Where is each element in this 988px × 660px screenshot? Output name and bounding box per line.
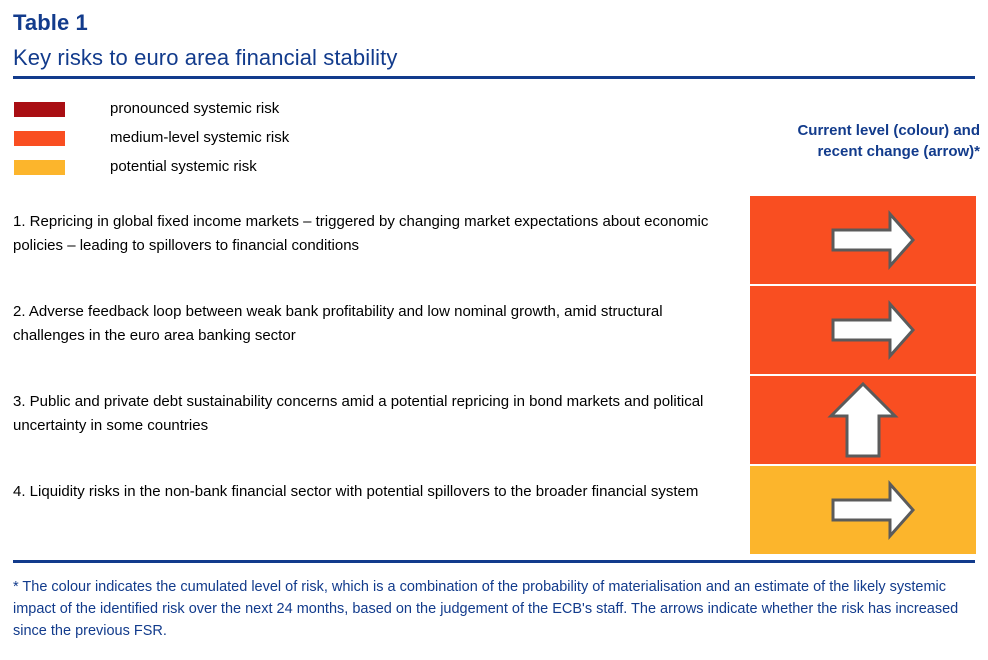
- legend-item-label: potential systemic risk: [110, 156, 257, 177]
- risk-legend: pronounced systemic riskmedium-level sys…: [14, 98, 434, 185]
- legend-item: potential systemic risk: [14, 156, 434, 185]
- legend-item-label: pronounced systemic risk: [110, 98, 279, 119]
- table-row: 1. Repricing in global fixed income mark…: [0, 196, 988, 286]
- arrow-up-icon: [750, 376, 976, 464]
- risk-description: 4. Liquidity risks in the non-bank finan…: [13, 480, 719, 504]
- column-header-line1: Current level (colour) and: [750, 120, 980, 141]
- legend-colour-swatch: [14, 160, 65, 175]
- risk-level-cell: [750, 286, 976, 374]
- risk-description: 3. Public and private debt sustainabilit…: [13, 390, 719, 438]
- table-row: 2. Adverse feedback loop between weak ba…: [0, 286, 988, 376]
- arrow-right-icon: [750, 466, 976, 554]
- arrow-right-icon: [750, 286, 976, 374]
- table-row: 4. Liquidity risks in the non-bank finan…: [0, 466, 988, 556]
- legend-item-label: medium-level systemic risk: [110, 127, 289, 148]
- footer-divider: [13, 560, 975, 563]
- column-header-current-level: Current level (colour) and recent change…: [750, 120, 980, 162]
- footnote-text: * The colour indicates the cumulated lev…: [13, 576, 965, 642]
- legend-colour-swatch: [14, 102, 65, 117]
- risk-level-cell: [750, 196, 976, 284]
- table-row: 3. Public and private debt sustainabilit…: [0, 376, 988, 466]
- risk-description: 2. Adverse feedback loop between weak ba…: [13, 300, 719, 348]
- legend-item: pronounced systemic risk: [14, 98, 434, 127]
- header-divider: [13, 76, 975, 79]
- legend-colour-swatch: [14, 131, 65, 146]
- risk-description: 1. Repricing in global fixed income mark…: [13, 210, 719, 258]
- legend-item: medium-level systemic risk: [14, 127, 434, 156]
- page-title: Key risks to euro area financial stabili…: [13, 45, 397, 71]
- risk-table-body: 1. Repricing in global fixed income mark…: [0, 196, 988, 556]
- table-number-label: Table 1: [13, 10, 88, 36]
- arrow-right-icon: [750, 196, 976, 284]
- column-header-line2: recent change (arrow)*: [750, 141, 980, 162]
- risk-level-cell: [750, 376, 976, 464]
- risk-level-cell: [750, 466, 976, 554]
